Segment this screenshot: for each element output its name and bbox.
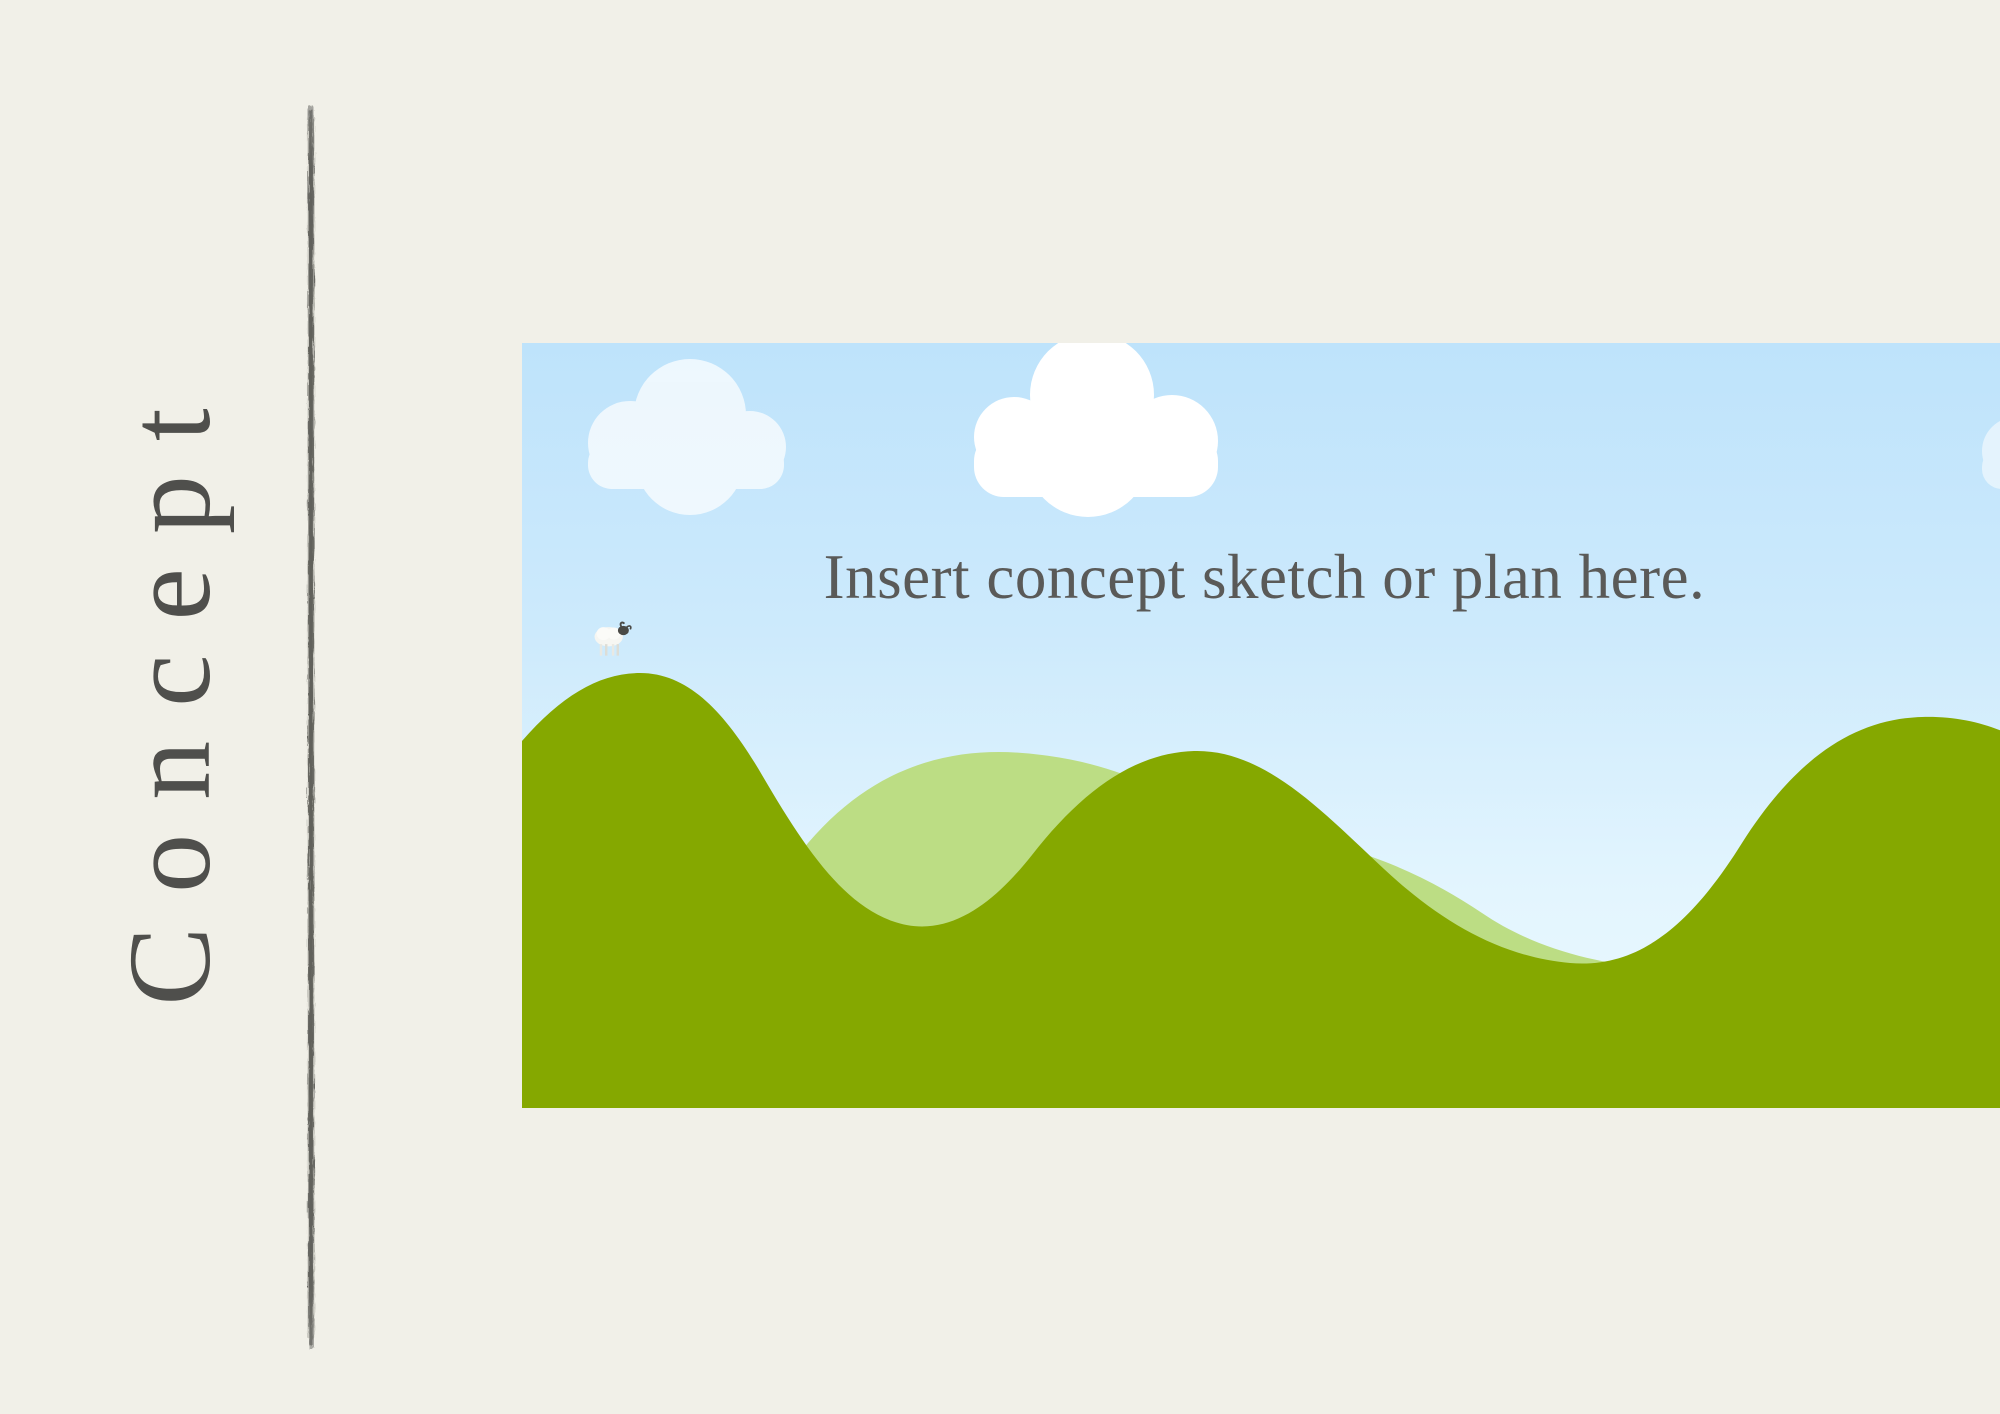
page-title: Concept xyxy=(111,374,229,1039)
concept-image-placeholder[interactable]: #sky-svg > g[data-name="cloud-left-icon"… xyxy=(522,343,2000,1108)
sheep-icon xyxy=(595,623,631,656)
hill-front xyxy=(522,673,2000,1108)
vertical-divider-line xyxy=(300,100,322,1355)
slide-canvas: Concept xyxy=(0,0,2000,1414)
pencil-line-icon xyxy=(300,100,322,1355)
placeholder-caption: Insert concept sketch or plan here. xyxy=(522,343,2000,614)
title-block: Concept xyxy=(0,0,340,1414)
